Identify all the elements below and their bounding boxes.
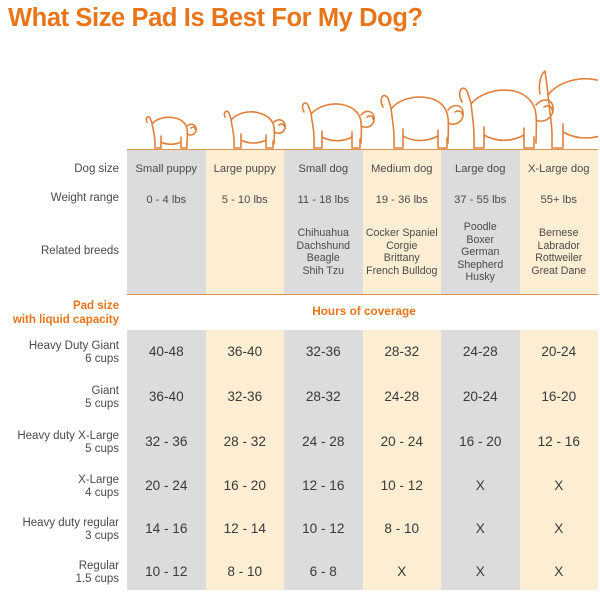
breed-item: Bernese (520, 227, 599, 240)
column-stripe-5-bottom (441, 330, 520, 590)
row-label-related-breeds: Related breeds (0, 245, 119, 259)
hours-of-coverage-label: Hours of coverage (284, 304, 444, 318)
breeds-cell-6: BerneseLabradorRottweilerGreat Dane (520, 227, 599, 277)
pad-value-4-6: X (520, 479, 599, 493)
pad-value-4-4: 10 - 12 (363, 479, 442, 493)
pad-value-2-3: 28-32 (284, 390, 363, 404)
breed-item: Great Dane (520, 265, 599, 278)
pad-value-2-1: 36-40 (127, 390, 206, 404)
pad-size-label-line2: with liquid capacity (0, 314, 119, 328)
pad-row-capacity-4: 4 cups (0, 487, 119, 501)
dog-size-cell-3: Small dog (284, 163, 363, 177)
column-stripe-4-bottom (363, 330, 442, 590)
pad-value-6-5: X (441, 565, 520, 579)
pad-value-4-2: 16 - 20 (206, 479, 285, 493)
dog-size-cell-5: Large dog (441, 163, 520, 177)
small-puppy-silhouette (146, 117, 196, 148)
pad-size-label-line1: Pad size (0, 300, 119, 314)
pad-value-1-3: 32-36 (284, 345, 363, 359)
pad-value-2-2: 32-36 (206, 390, 285, 404)
pad-value-5-4: 8 - 10 (363, 522, 442, 536)
pad-value-4-5: X (441, 479, 520, 493)
pad-value-6-1: 10 - 12 (127, 565, 206, 579)
breed-item: Chihuahua (284, 227, 363, 240)
pad-row-name-3: Heavy duty X-Large (0, 430, 119, 444)
pad-row-capacity-6: 1.5 cups (0, 573, 119, 587)
pad-value-3-6: 12 - 16 (520, 435, 599, 449)
breed-item: Dachshund (284, 240, 363, 253)
pad-value-4-3: 12 - 16 (284, 479, 363, 493)
breed-item: Boxer (441, 234, 520, 247)
pad-value-5-1: 14 - 16 (127, 522, 206, 536)
pad-value-3-5: 16 - 20 (441, 435, 520, 449)
dog-size-cell-4: Medium dog (363, 163, 442, 177)
small-dog-silhouette (303, 103, 375, 148)
pad-row-capacity-2: 5 cups (0, 398, 119, 412)
medium-dog-silhouette (381, 96, 463, 148)
dog-size-cell-6: X-Large dog (520, 163, 599, 177)
dog-size-cell-1: Small puppy (127, 163, 206, 177)
column-stripe-6-bottom (520, 330, 599, 590)
pad-value-5-5: X (441, 522, 520, 536)
large-puppy-silhouette (224, 111, 285, 148)
pad-value-1-2: 36-40 (206, 345, 285, 359)
pad-value-3-2: 28 - 32 (206, 435, 285, 449)
pad-row-capacity-3: 5 cups (0, 443, 119, 457)
pad-value-3-1: 32 - 36 (127, 435, 206, 449)
breed-item: Rottweiler (520, 252, 599, 265)
pad-row-capacity-5: 3 cups (0, 530, 119, 544)
pad-value-6-3: 6 - 8 (284, 565, 363, 579)
pad-value-6-2: 8 - 10 (206, 565, 285, 579)
breed-item: Brittany (363, 252, 442, 265)
pad-value-4-1: 20 - 24 (127, 479, 206, 493)
pad-value-1-4: 28-32 (363, 345, 442, 359)
breed-item: Shepherd (441, 259, 520, 272)
weight-range-cell-4: 19 - 36 lbs (363, 194, 442, 208)
divider-line-middle (127, 294, 598, 295)
weight-range-cell-3: 11 - 18 lbs (284, 194, 363, 208)
breeds-cell-4: Cocker SpanielCorgieBrittanyFrench Bulld… (363, 227, 442, 277)
column-stripe-3-bottom (284, 330, 363, 590)
pad-value-1-6: 20-24 (520, 345, 599, 359)
breed-item: Husky (441, 271, 520, 284)
row-label-dog-size: Dog size (0, 163, 119, 177)
weight-range-cell-1: 0 - 4 lbs (127, 194, 206, 208)
breed-item: Labrador (520, 240, 599, 253)
weight-range-cell-5: 37 - 55 lbs (441, 194, 520, 208)
breeds-cell-5: PoodleBoxerGermanShepherdHusky (441, 221, 520, 284)
pad-row-name-1: Heavy Duty Giant (0, 340, 119, 354)
breed-item: Shih Tzu (284, 265, 363, 278)
row-label-weight-range: Weight range (0, 192, 119, 206)
pad-row-name-5: Heavy duty regular (0, 517, 119, 531)
pad-value-3-4: 20 - 24 (363, 435, 442, 449)
pad-value-1-5: 24-28 (441, 345, 520, 359)
weight-range-cell-6: 55+ lbs (520, 194, 599, 208)
breed-item: Corgie (363, 240, 442, 253)
pad-value-6-6: X (520, 565, 599, 579)
breed-item: French Bulldog (363, 265, 442, 278)
breed-item: Poodle (441, 221, 520, 234)
breeds-cell-3: ChihuahuaDachshundBeagleShih Tzu (284, 227, 363, 277)
pad-value-2-5: 20-24 (441, 390, 520, 404)
weight-range-cell-2: 5 - 10 lbs (206, 194, 285, 208)
breed-item: Cocker Spaniel (363, 227, 442, 240)
breed-item: Beagle (284, 252, 363, 265)
pad-value-6-4: X (363, 565, 442, 579)
pad-row-name-4: X-Large (0, 474, 119, 488)
column-stripe-1-bottom (127, 330, 206, 590)
pad-value-5-3: 10 - 12 (284, 522, 363, 536)
dog-size-cell-2: Large puppy (206, 163, 285, 177)
dog-silhouette-row (127, 58, 598, 150)
pad-value-1-1: 40-48 (127, 345, 206, 359)
pad-row-capacity-1: 6 cups (0, 353, 119, 367)
pad-value-3-3: 24 - 28 (284, 435, 363, 449)
column-stripe-2-bottom (206, 330, 285, 590)
pad-value-5-6: X (520, 522, 599, 536)
pad-row-name-6: Regular (0, 560, 119, 574)
x-large-dog-silhouette (539, 71, 598, 148)
divider-line-top (127, 149, 598, 150)
pad-row-name-2: Giant (0, 385, 119, 399)
breed-item: German (441, 246, 520, 259)
pad-value-5-2: 12 - 14 (206, 522, 285, 536)
page-title: What Size Pad Is Best For My Dog? (8, 4, 592, 33)
pad-value-2-6: 16-20 (520, 390, 599, 404)
pad-value-2-4: 24-28 (363, 390, 442, 404)
large-dog-silhouette (460, 88, 553, 148)
